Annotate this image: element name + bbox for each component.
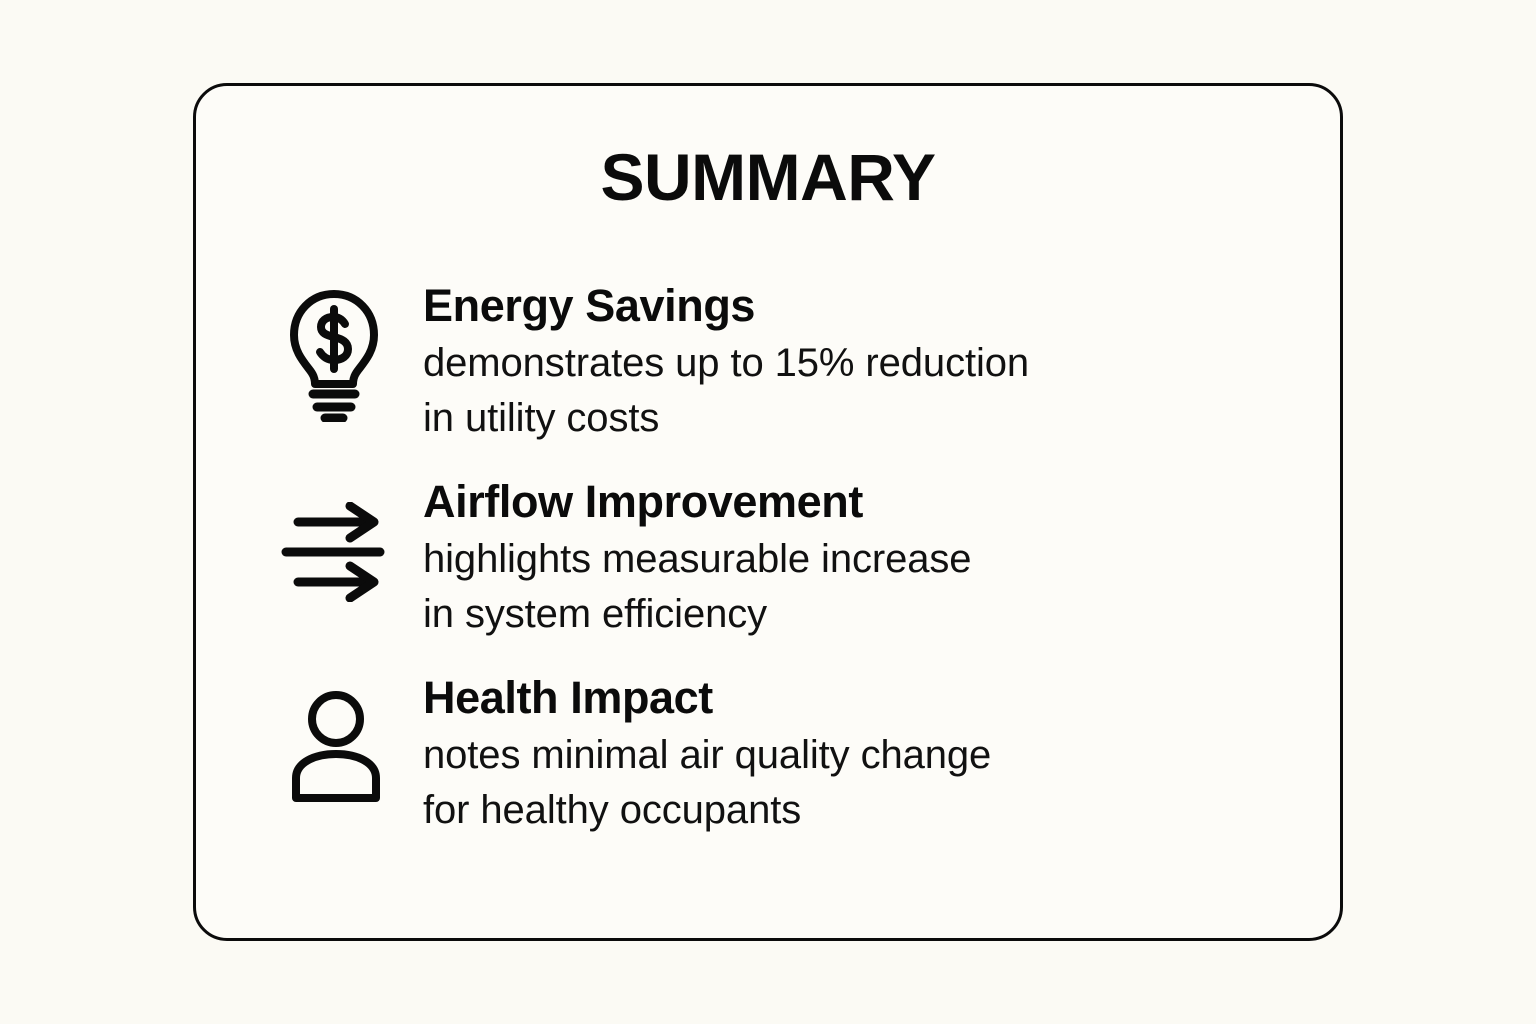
item-description-line: demonstrates up to 15% reduction	[423, 336, 1278, 391]
item-description-line: highlights measurable increase	[423, 532, 1278, 587]
item-description: highlights measurable increase in system…	[423, 532, 1278, 642]
list-item: Energy Savings demonstrates up to 15% re…	[278, 282, 1278, 446]
summary-item-list: Energy Savings demonstrates up to 15% re…	[278, 282, 1278, 838]
summary-card: SUMMARY	[193, 83, 1343, 941]
item-heading: Health Impact	[423, 674, 1278, 722]
item-icon-slot	[278, 478, 423, 628]
item-description-line: notes minimal air quality change	[423, 728, 1278, 783]
person-icon	[286, 690, 386, 802]
item-text-block: Health Impact notes minimal air quality …	[423, 674, 1278, 838]
lightbulb-dollar-icon	[284, 288, 384, 422]
item-text-block: Energy Savings demonstrates up to 15% re…	[423, 282, 1278, 446]
item-icon-slot	[278, 282, 423, 432]
airflow-arrows-icon	[280, 502, 392, 602]
item-text-block: Airflow Improvement highlights measurabl…	[423, 478, 1278, 642]
summary-slide: SUMMARY	[0, 0, 1536, 1024]
list-item: Airflow Improvement highlights measurabl…	[278, 478, 1278, 642]
item-description: notes minimal air quality change for hea…	[423, 728, 1278, 838]
item-description-line: in utility costs	[423, 391, 1278, 446]
item-description-line: in system efficiency	[423, 587, 1278, 642]
item-icon-slot	[278, 674, 423, 824]
item-description: demonstrates up to 15% reduction in util…	[423, 336, 1278, 446]
page-title: SUMMARY	[196, 144, 1340, 210]
item-description-line: for healthy occupants	[423, 783, 1278, 838]
list-item: Health Impact notes minimal air quality …	[278, 674, 1278, 838]
item-heading: Energy Savings	[423, 282, 1278, 330]
item-heading: Airflow Improvement	[423, 478, 1278, 526]
